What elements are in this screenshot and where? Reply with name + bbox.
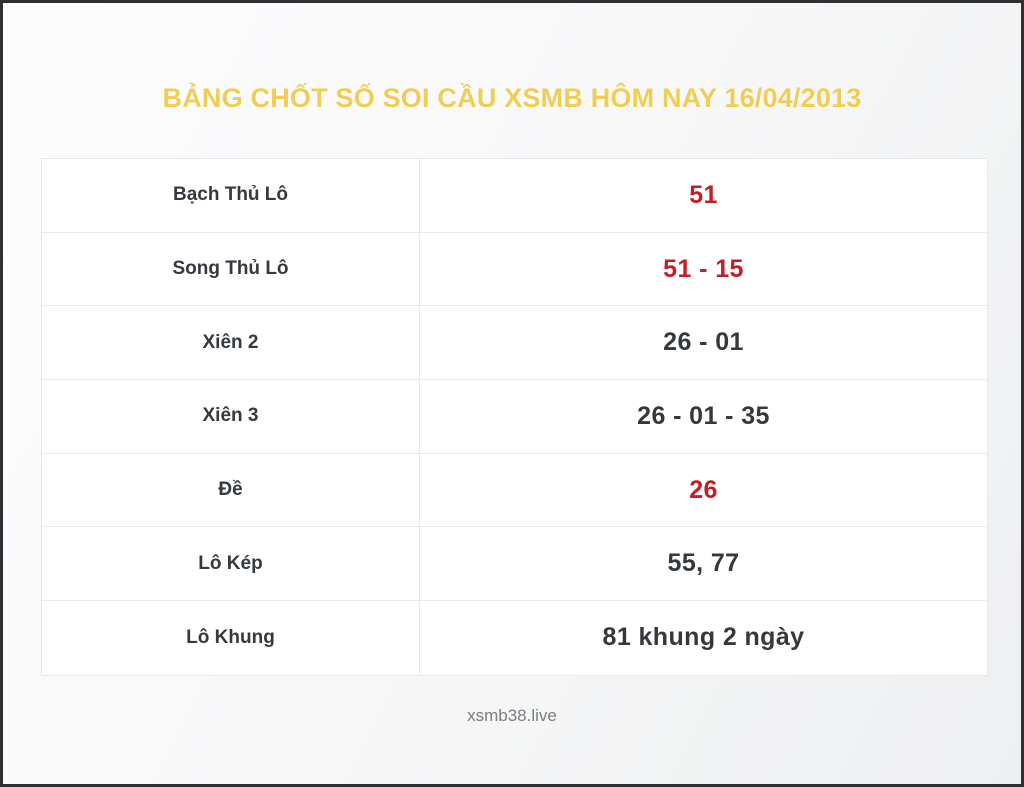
row-label: Xiên 2 (42, 306, 420, 379)
row-label: Lô Khung (42, 601, 420, 675)
table-row: Lô Kép55, 77 (42, 527, 987, 601)
row-value: 55, 77 (420, 527, 987, 600)
row-value-highlighted: 26 (420, 454, 987, 527)
row-label: Xiên 3 (42, 380, 420, 453)
table-row: Song Thủ Lô51 - 15 (42, 233, 987, 307)
table-row: Xiên 226 - 01 (42, 306, 987, 380)
table-row: Bạch Thủ Lô51 (42, 159, 987, 233)
page-canvas: BẢNG CHỐT SỐ SOI CẦU XSMB HÔM NAY 16/04/… (3, 3, 1021, 784)
site-watermark: xsmb38.live (3, 706, 1021, 726)
row-value-highlighted: 51 - 15 (420, 233, 987, 306)
row-label: Lô Kép (42, 527, 420, 600)
row-value-highlighted: 51 (420, 159, 987, 232)
page-title: BẢNG CHỐT SỐ SOI CẦU XSMB HÔM NAY 16/04/… (3, 83, 1021, 114)
row-label: Song Thủ Lô (42, 233, 420, 306)
row-value: 81 khung 2 ngày (420, 601, 987, 675)
table-row: Xiên 326 - 01 - 35 (42, 380, 987, 454)
soi-cau-table: Bạch Thủ Lô51Song Thủ Lô51 - 15Xiên 226 … (41, 158, 988, 676)
screenshot-frame: BẢNG CHỐT SỐ SOI CẦU XSMB HÔM NAY 16/04/… (0, 0, 1024, 787)
row-label: Đề (42, 454, 420, 527)
row-value: 26 - 01 - 35 (420, 380, 987, 453)
table-row: Lô Khung81 khung 2 ngày (42, 601, 987, 675)
row-label: Bạch Thủ Lô (42, 159, 420, 232)
row-value: 26 - 01 (420, 306, 987, 379)
table-row: Đề26 (42, 454, 987, 528)
